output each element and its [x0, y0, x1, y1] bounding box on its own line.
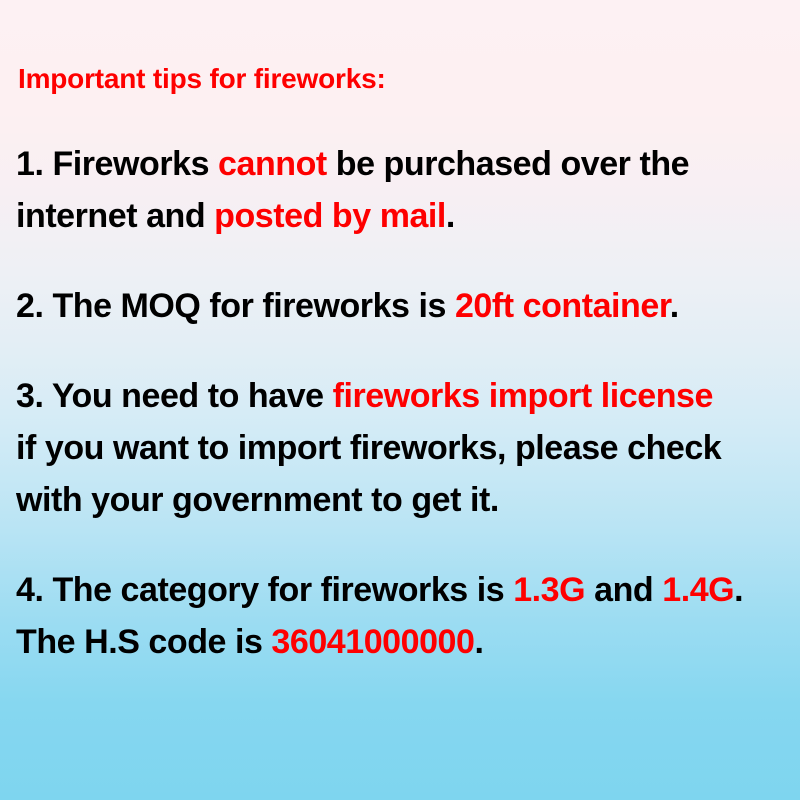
tip-line: The H.S code is 36041000000. [16, 616, 786, 668]
tip-line: 3. You need to have fireworks import lic… [16, 370, 786, 422]
highlighted-text: cannot [218, 145, 327, 183]
tip-item: 2. The MOQ for fireworks is 20ft contain… [16, 280, 786, 332]
highlighted-text: 1.4G [662, 571, 734, 609]
highlighted-text: posted by mail [214, 197, 446, 235]
tip-text: be purchased over the [327, 145, 689, 183]
tip-text: internet and [16, 197, 214, 235]
highlighted-text: 20ft container [455, 287, 670, 325]
tip-line: 4. The category for fireworks is 1.3G an… [16, 564, 786, 616]
tip-text: 4. The category for fireworks is [16, 571, 513, 609]
tip-text: . [734, 571, 743, 609]
tip-text: 3. You need to have [16, 377, 333, 415]
tip-line: 2. The MOQ for fireworks is 20ft contain… [16, 280, 786, 332]
tip-line: if you want to import fireworks, please … [16, 422, 786, 474]
tip-text: 2. The MOQ for fireworks is [16, 287, 455, 325]
tip-text: . [446, 197, 455, 235]
tip-text: The H.S code is [16, 623, 271, 661]
tip-text: . [474, 623, 483, 661]
tip-item: 1. Fireworks cannot be purchased over th… [16, 138, 786, 242]
tips-list: 1. Fireworks cannot be purchased over th… [16, 138, 786, 668]
tip-text: . [670, 287, 679, 325]
tip-line: 1. Fireworks cannot be purchased over th… [16, 138, 786, 190]
page-title: Important tips for fireworks: [18, 62, 786, 96]
tip-line: internet and posted by mail. [16, 190, 786, 242]
highlighted-text: 36041000000 [271, 623, 474, 661]
tip-text: and [585, 571, 662, 609]
highlighted-text: 1.3G [513, 571, 585, 609]
tip-line: with your government to get it. [16, 474, 786, 526]
tip-text: with your government to get it. [16, 481, 499, 519]
tip-text: 1. Fireworks [16, 145, 218, 183]
fireworks-tips-banner: Important tips for fireworks: 1. Firewor… [0, 0, 800, 800]
highlighted-text: fireworks import license [333, 377, 713, 415]
tip-item: 4. The category for fireworks is 1.3G an… [16, 564, 786, 668]
tips-content: Important tips for fireworks: 1. Firewor… [16, 0, 786, 668]
tip-text: if you want to import fireworks, please … [16, 429, 721, 467]
tip-item: 3. You need to have fireworks import lic… [16, 370, 786, 526]
